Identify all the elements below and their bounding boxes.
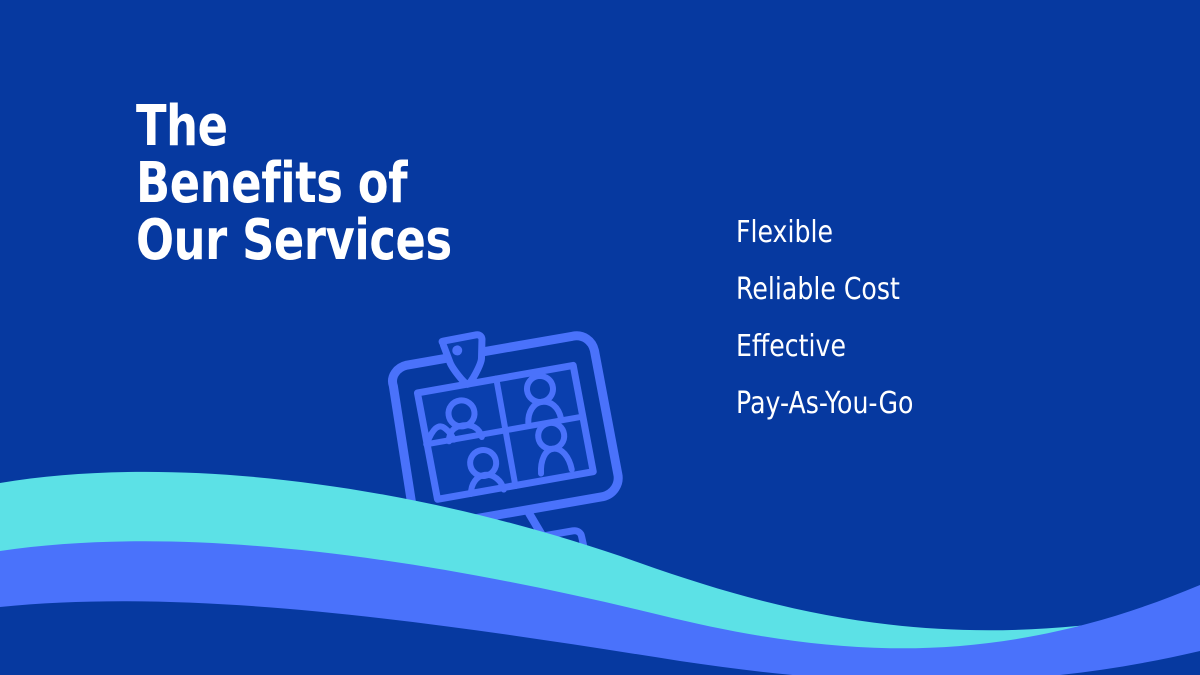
list-item: Reliable Cost	[736, 275, 1089, 305]
list-item: Pay-As-You-Go	[736, 389, 1089, 419]
benefits-list: Flexible Reliable Cost Effective Pay-As-…	[736, 218, 1156, 419]
title-line-1: The	[136, 98, 552, 155]
title-line-3: Our Services	[136, 212, 552, 269]
presentation-slide: The Benefits of Our Services Flexible Re…	[0, 0, 1200, 675]
title-line-2: Benefits of	[136, 155, 552, 212]
page-title: The Benefits of Our Services	[136, 98, 656, 269]
decorative-waves	[0, 455, 1200, 675]
list-item: Flexible	[736, 218, 1089, 248]
list-item: Effective	[736, 332, 1089, 362]
